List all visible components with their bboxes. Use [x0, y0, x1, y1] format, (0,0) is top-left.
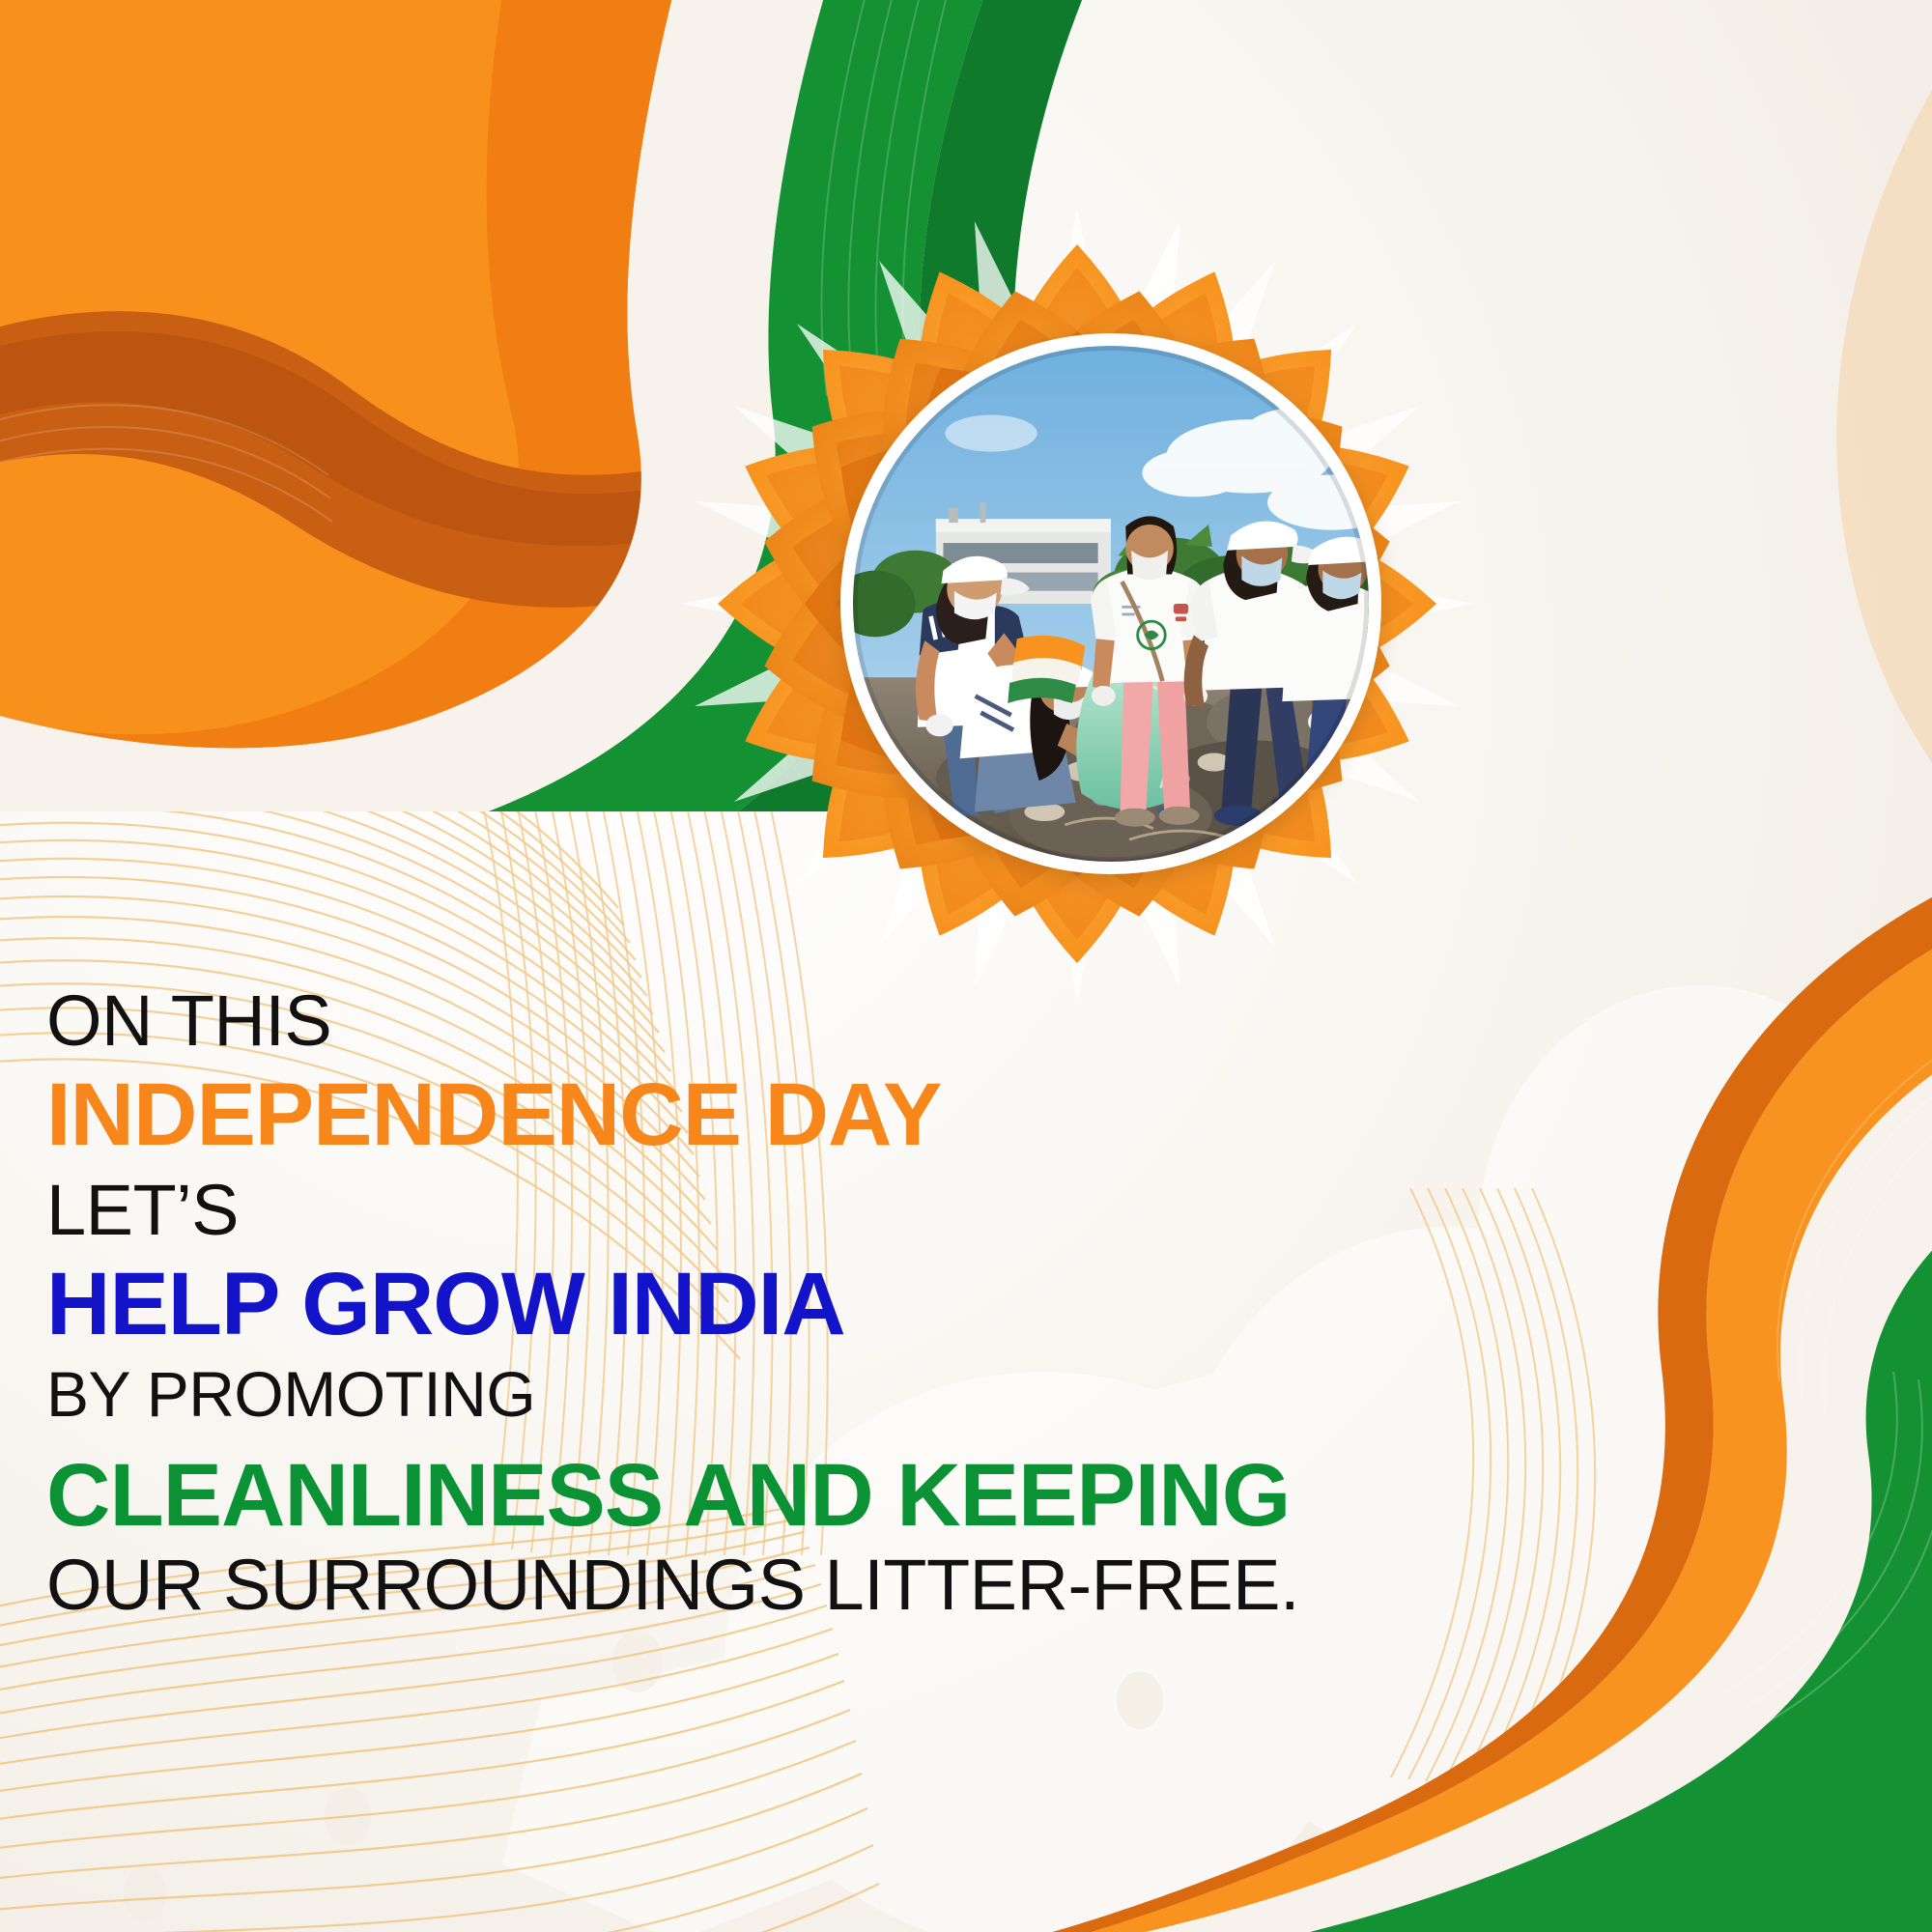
headline-line-3: LET’S [46, 1175, 1399, 1246]
headline-line-2: INDEPENDENCE DAY [46, 1070, 1399, 1159]
headline-line-4: HELP GROW INDIA [46, 1260, 1399, 1349]
headline-line-6: CLEANLINESS AND KEEPING [46, 1451, 1399, 1540]
tricolour-cloth [1008, 636, 1085, 703]
photo-frame [840, 333, 1381, 874]
headline-line-5: BY PROMOTING [46, 1362, 1399, 1426]
mandala-photo-frame [676, 164, 1478, 1063]
headline-block: ON THIS INDEPENDENCE DAY LET’S HELP GROW… [46, 985, 1399, 1621]
beach-cleanup-volunteers-photo [853, 346, 1369, 862]
headline-line-1: ON THIS [46, 985, 1399, 1057]
glove [925, 714, 953, 736]
glove [1092, 686, 1116, 706]
photo-illustration [853, 346, 1369, 862]
ribbon-right-edge [1623, 58, 1932, 792]
independence-day-poster: ON THIS INDEPENDENCE DAY LET’S HELP GROW… [0, 0, 1932, 1932]
tee-logo-red [1174, 604, 1188, 621]
headline-line-7: OUR SURROUNDINGS LITTER-FREE. [46, 1549, 1399, 1621]
